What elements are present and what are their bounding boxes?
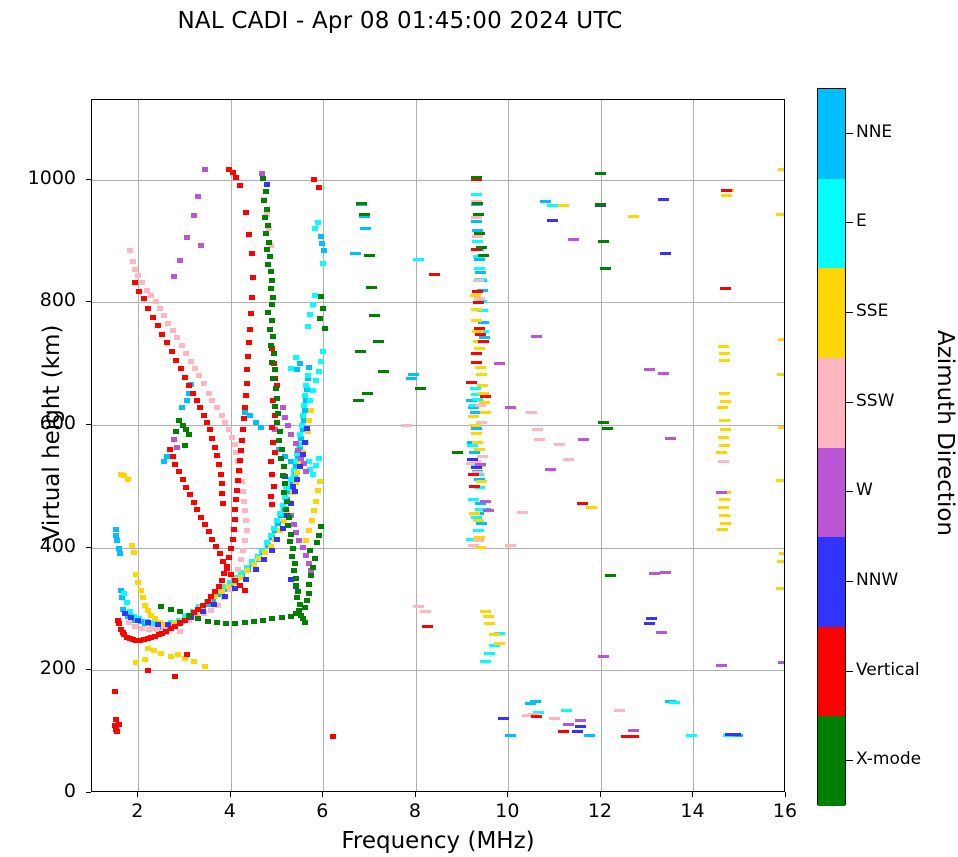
- data-point: [136, 289, 142, 294]
- data-point: [718, 460, 729, 463]
- data-point: [483, 615, 494, 618]
- data-point: [300, 452, 306, 457]
- data-point: [717, 406, 728, 409]
- data-point: [311, 508, 317, 513]
- data-point: [717, 528, 728, 531]
- data-point: [293, 583, 299, 588]
- data-point: [244, 381, 250, 386]
- data-point: [312, 226, 318, 231]
- data-point: [177, 258, 183, 263]
- data-point: [719, 498, 730, 501]
- data-point: [322, 326, 328, 331]
- data-point: [188, 359, 194, 364]
- data-point: [719, 392, 730, 395]
- data-point: [720, 287, 731, 290]
- data-point: [201, 413, 207, 418]
- y-axis-tick: [86, 179, 91, 180]
- gridline-horizontal: [92, 180, 784, 181]
- data-point: [244, 568, 250, 573]
- colorbar[interactable]: [817, 88, 846, 805]
- data-point: [272, 404, 278, 409]
- data-point: [660, 571, 671, 574]
- colorbar-segment-sse[interactable]: [818, 268, 845, 358]
- data-point: [273, 386, 279, 391]
- x-axis-tick: [507, 792, 508, 797]
- data-point: [265, 223, 271, 228]
- data-point: [222, 420, 228, 425]
- data-point: [127, 248, 133, 253]
- data-point: [505, 544, 516, 547]
- data-point: [269, 278, 275, 283]
- data-point: [269, 548, 275, 553]
- data-point: [282, 481, 288, 486]
- data-point: [598, 421, 609, 424]
- data-point: [475, 271, 486, 274]
- data-point: [471, 220, 482, 223]
- data-point: [471, 176, 482, 179]
- data-point: [250, 275, 256, 280]
- data-point: [183, 485, 189, 490]
- data-point: [480, 395, 491, 398]
- data-point: [276, 438, 282, 443]
- data-point: [476, 421, 487, 424]
- data-point: [178, 366, 184, 371]
- data-point: [318, 359, 324, 364]
- colorbar-label-w: W: [856, 480, 873, 500]
- data-point: [316, 369, 322, 374]
- data-point: [303, 383, 309, 388]
- x-axis-tick: [692, 792, 693, 797]
- colorbar-tick: [846, 760, 853, 761]
- colorbar-tick: [846, 491, 853, 492]
- data-point: [211, 602, 217, 607]
- data-point: [224, 566, 230, 571]
- y-axis-title: Virtual height (km): [39, 233, 65, 633]
- data-point: [182, 375, 188, 380]
- data-point: [214, 453, 220, 458]
- data-point: [145, 306, 151, 311]
- data-point: [296, 538, 302, 543]
- data-point: [204, 420, 210, 425]
- data-point: [474, 448, 485, 451]
- data-point: [471, 193, 482, 196]
- data-point: [240, 548, 246, 553]
- data-point: [260, 176, 266, 181]
- data-point: [313, 378, 319, 383]
- data-point: [308, 408, 314, 413]
- data-point: [480, 610, 491, 613]
- data-point: [469, 485, 480, 488]
- data-point: [318, 294, 324, 299]
- data-point: [207, 427, 213, 432]
- data-point: [595, 203, 606, 206]
- data-point: [155, 622, 161, 627]
- data-point: [472, 240, 483, 243]
- data-point: [311, 177, 317, 182]
- data-point: [297, 464, 303, 469]
- data-point: [289, 554, 295, 559]
- data-point: [558, 730, 569, 733]
- data-point: [719, 359, 730, 362]
- data-point: [169, 349, 175, 354]
- data-point: [133, 572, 139, 577]
- data-point: [359, 213, 370, 216]
- data-point: [575, 719, 586, 722]
- data-point: [413, 258, 424, 261]
- data-point: [310, 472, 316, 477]
- data-point: [240, 489, 246, 494]
- data-point: [196, 373, 202, 378]
- colorbar-label-vertical: Vertical: [856, 660, 920, 680]
- data-point: [237, 458, 243, 463]
- data-point: [172, 462, 178, 467]
- data-point: [243, 210, 249, 215]
- data-point: [306, 528, 312, 533]
- data-point: [313, 499, 319, 504]
- data-point: [478, 392, 489, 395]
- x-axis-tick-label: 6: [292, 800, 352, 822]
- data-point: [312, 293, 318, 298]
- data-point: [219, 578, 225, 583]
- data-point: [483, 509, 494, 512]
- data-point: [721, 189, 732, 192]
- data-point: [669, 701, 680, 704]
- data-point: [113, 527, 119, 532]
- data-point: [170, 328, 176, 333]
- data-point: [665, 437, 676, 440]
- data-point: [293, 441, 299, 446]
- data-point: [474, 327, 485, 330]
- data-point: [267, 327, 273, 332]
- data-point: [236, 468, 242, 473]
- colorbar-tick: [846, 581, 853, 582]
- data-point: [235, 567, 241, 572]
- data-point: [307, 398, 313, 403]
- data-point: [467, 444, 478, 447]
- data-point: [232, 507, 238, 512]
- data-point: [366, 286, 377, 289]
- data-point: [112, 689, 118, 694]
- data-point: [719, 444, 730, 447]
- data-point: [214, 405, 220, 410]
- data-point: [408, 373, 419, 376]
- data-point: [364, 254, 375, 257]
- data-point: [208, 608, 214, 613]
- data-point: [598, 240, 609, 243]
- data-point: [191, 213, 197, 218]
- data-point: [505, 406, 516, 409]
- data-point: [474, 267, 485, 270]
- data-point: [554, 443, 565, 446]
- data-point: [130, 259, 136, 264]
- gridline-vertical: [138, 100, 139, 791]
- data-point: [173, 358, 179, 363]
- data-point: [133, 660, 139, 665]
- data-point: [114, 729, 120, 734]
- data-point: [173, 429, 179, 434]
- data-point: [261, 198, 267, 203]
- data-point: [778, 426, 785, 429]
- data-point: [468, 544, 479, 547]
- data-point: [121, 591, 127, 596]
- data-point: [253, 567, 259, 572]
- data-point: [356, 202, 367, 205]
- data-point: [505, 734, 516, 737]
- colorbar-label-sse: SSE: [856, 301, 888, 321]
- data-point: [719, 352, 730, 355]
- colorbar-segment-x-mode[interactable]: [818, 716, 845, 806]
- data-point: [534, 438, 545, 441]
- data-point: [369, 314, 380, 317]
- data-point: [116, 722, 122, 727]
- data-point: [265, 310, 271, 315]
- data-point: [275, 411, 281, 416]
- data-point: [776, 479, 785, 482]
- data-point: [319, 241, 325, 246]
- data-point: [355, 350, 366, 353]
- data-point: [157, 306, 163, 311]
- data-point: [226, 167, 232, 172]
- data-point: [716, 451, 727, 454]
- data-point: [168, 607, 174, 612]
- gridline-horizontal: [92, 302, 784, 303]
- data-point: [320, 306, 326, 311]
- data-point: [268, 459, 274, 464]
- data-point: [176, 469, 182, 474]
- colorbar-segment-w[interactable]: [818, 448, 845, 538]
- data-point: [547, 204, 558, 207]
- data-point: [472, 290, 483, 293]
- data-point: [229, 435, 235, 440]
- data-point: [307, 312, 313, 317]
- data-point: [614, 709, 625, 712]
- data-point: [353, 399, 364, 402]
- data-point: [469, 512, 480, 515]
- data-point: [658, 198, 669, 201]
- data-point: [219, 481, 225, 486]
- data-point: [468, 498, 479, 501]
- data-point: [302, 440, 308, 445]
- data-point: [321, 248, 327, 253]
- data-point: [310, 302, 316, 307]
- data-point: [595, 172, 606, 175]
- y-axis-tick: [86, 669, 91, 670]
- data-point: [268, 494, 274, 499]
- data-point: [282, 415, 288, 420]
- colorbar-segment-ssw[interactable]: [818, 358, 845, 448]
- data-point: [302, 620, 308, 625]
- data-point: [475, 366, 486, 369]
- x-axis-tick: [322, 792, 323, 797]
- data-point: [216, 462, 222, 467]
- data-point: [262, 215, 268, 220]
- data-point: [776, 587, 785, 590]
- data-point: [263, 189, 269, 194]
- data-point: [180, 477, 186, 482]
- data-point: [113, 717, 119, 722]
- data-point: [213, 544, 219, 549]
- data-point: [471, 352, 482, 355]
- data-point: [187, 492, 193, 497]
- data-point: [471, 427, 482, 430]
- data-point: [473, 279, 484, 282]
- data-point: [285, 423, 291, 428]
- colorbar-segment-nnw[interactable]: [818, 537, 845, 627]
- data-point: [471, 432, 482, 435]
- data-point: [179, 343, 185, 348]
- data-point: [316, 533, 322, 538]
- data-point: [292, 561, 298, 566]
- colorbar-label-x-mode: X-mode: [856, 749, 921, 769]
- data-point: [470, 294, 481, 297]
- data-point: [269, 425, 275, 430]
- data-point: [531, 335, 542, 338]
- data-point: [598, 655, 609, 658]
- data-point: [468, 415, 479, 418]
- data-point: [306, 418, 312, 423]
- data-point: [317, 316, 323, 321]
- data-point: [297, 432, 303, 437]
- data-point: [310, 565, 316, 570]
- data-point: [471, 319, 482, 322]
- data-point: [525, 702, 536, 705]
- data-point: [274, 537, 280, 542]
- data-point: [279, 447, 285, 452]
- data-point: [406, 377, 417, 380]
- data-point: [265, 262, 271, 267]
- data-point: [306, 582, 312, 587]
- data-point: [474, 347, 485, 350]
- data-point: [194, 398, 200, 403]
- data-point: [294, 595, 300, 600]
- data-point: [209, 537, 215, 542]
- data-point: [294, 477, 300, 482]
- colorbar-title: Azimuth Direction: [932, 233, 958, 633]
- data-point: [294, 367, 300, 372]
- data-point: [268, 343, 274, 348]
- data-point: [290, 484, 296, 489]
- x-axis-tick: [415, 792, 416, 797]
- data-point: [184, 652, 190, 657]
- data-point: [220, 501, 226, 506]
- data-point: [138, 588, 144, 593]
- data-point: [305, 373, 311, 378]
- data-point: [471, 216, 482, 219]
- data-point: [476, 246, 487, 249]
- data-point: [128, 615, 134, 620]
- data-point: [145, 668, 151, 673]
- data-point: [658, 372, 669, 375]
- data-point: [584, 734, 595, 737]
- data-point: [129, 543, 135, 548]
- data-point: [719, 419, 730, 422]
- data-point: [261, 557, 267, 562]
- data-point: [301, 403, 307, 408]
- gridline-horizontal: [92, 425, 784, 426]
- data-point: [350, 252, 361, 255]
- data-point: [184, 235, 190, 240]
- data-point: [209, 436, 215, 441]
- colorbar-tick: [846, 222, 853, 223]
- data-point: [155, 323, 161, 328]
- data-point: [315, 220, 321, 225]
- data-point: [272, 367, 278, 372]
- data-point: [320, 349, 326, 354]
- data-point: [206, 529, 212, 534]
- data-point: [489, 633, 500, 636]
- data-point: [186, 432, 192, 437]
- data-point: [135, 580, 141, 585]
- data-point: [308, 573, 314, 578]
- data-point: [474, 232, 485, 235]
- data-point: [602, 427, 613, 430]
- data-point: [718, 506, 729, 509]
- data-point: [290, 546, 296, 551]
- data-point: [472, 202, 483, 205]
- data-point: [135, 618, 141, 623]
- x-axis-tick-label: 2: [107, 800, 167, 822]
- data-point: [242, 588, 248, 593]
- data-point: [473, 539, 484, 542]
- data-point: [656, 631, 667, 634]
- data-point: [244, 367, 250, 372]
- data-point: [243, 393, 249, 398]
- gridline-vertical: [693, 100, 694, 791]
- data-point: [309, 518, 315, 523]
- data-point: [285, 523, 291, 528]
- data-point: [233, 497, 239, 502]
- data-point: [226, 555, 232, 560]
- colorbar-segment-e[interactable]: [818, 179, 845, 269]
- data-point: [241, 416, 247, 421]
- plot-area: [91, 99, 785, 792]
- data-point: [303, 469, 309, 474]
- data-point: [206, 391, 212, 396]
- data-point: [267, 254, 273, 259]
- data-point: [245, 354, 251, 359]
- data-point: [475, 333, 486, 336]
- data-point: [477, 384, 488, 387]
- colorbar-label-e: E: [856, 211, 867, 231]
- data-point: [716, 491, 727, 494]
- data-point: [558, 204, 569, 207]
- data-point: [471, 361, 482, 364]
- data-point: [605, 574, 616, 577]
- data-point: [239, 438, 245, 443]
- data-point: [303, 538, 309, 543]
- data-point: [294, 470, 300, 475]
- data-point: [220, 559, 226, 564]
- data-point: [284, 499, 290, 504]
- colorbar-segment-nne[interactable]: [818, 89, 845, 179]
- data-point: [716, 664, 727, 667]
- data-point: [269, 302, 275, 307]
- data-point: [540, 200, 551, 203]
- data-point: [277, 429, 283, 434]
- data-point: [195, 194, 201, 199]
- data-point: [165, 321, 171, 326]
- data-point: [281, 464, 287, 469]
- data-point: [297, 361, 303, 366]
- data-point: [117, 551, 123, 556]
- data-point: [547, 219, 558, 222]
- colorbar-segment-vertical[interactable]: [818, 627, 845, 717]
- x-axis-tick-label: 10: [477, 800, 537, 822]
- page-title: NAL CADI - Apr 08 01:45:00 2024 UTC: [0, 8, 800, 34]
- data-point: [270, 334, 276, 339]
- data-point: [777, 560, 785, 563]
- data-point: [161, 313, 167, 318]
